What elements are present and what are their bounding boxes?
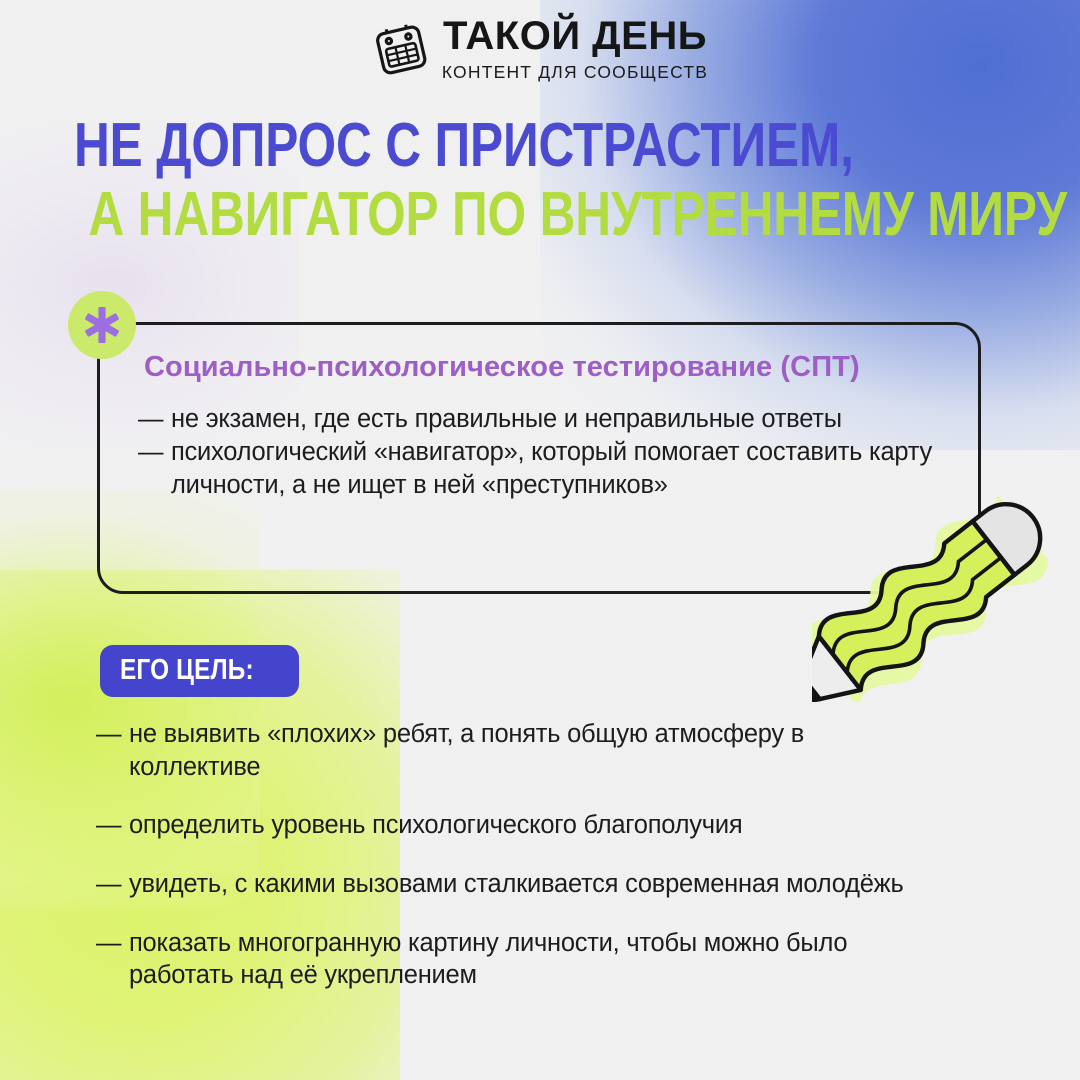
pencil-icon (812, 480, 1062, 702)
page-title: НЕ ДОПРОС С ПРИСТРАСТИЕМ, А НАВИГАТОР ПО… (74, 116, 1014, 246)
list-item-text: не экзамен, где есть правильные и неправ… (171, 403, 956, 436)
list-item-text: не выявить «плохих» ребят, а понять общу… (129, 718, 936, 783)
list-dash: — (96, 718, 129, 783)
headline-line-2: А НАВИГАТОР ПО ВНУТРЕННЕМУ МИРУ (74, 185, 826, 246)
list-item: — не экзамен, где есть правильные и непр… (138, 403, 956, 436)
list-item: — показать многогранную картину личности… (96, 927, 936, 992)
goal-list: — не выявить «плохих» ребят, а понять об… (96, 718, 936, 992)
asterisk-badge (68, 291, 136, 359)
headline-line-1: НЕ ДОПРОС С ПРИСТРАСТИЕМ, (74, 116, 826, 177)
asterisk-icon (82, 305, 122, 345)
list-item-text: увидеть, с какими вызовами сталкивается … (129, 868, 936, 901)
brand-title: ТАКОЙ ДЕНЬ (443, 16, 707, 57)
list-item: — определить уровень психологического бл… (96, 809, 936, 842)
list-dash: — (96, 868, 129, 901)
card-heading: Социально-психологическое тестирование (… (144, 351, 860, 384)
list-dash: — (96, 927, 129, 992)
list-item-text: показать многогранную картину личности, … (129, 927, 936, 992)
status-badge: ЕГО ЦЕЛЬ: (100, 645, 299, 697)
calendar-icon (372, 18, 430, 80)
list-item-text: определить уровень психологического благ… (129, 809, 936, 842)
list-item: — не выявить «плохих» ребят, а понять об… (96, 718, 936, 783)
brand-logo: ТАКОЙ ДЕНЬ КОНТЕНТ ДЛЯ СООБЩЕСТВ (0, 16, 1080, 83)
list-dash: — (138, 436, 171, 502)
poster-canvas: ТАКОЙ ДЕНЬ КОНТЕНТ ДЛЯ СООБЩЕСТВ НЕ ДОПР… (0, 0, 1080, 1080)
list-dash: — (138, 403, 171, 436)
goal-badge-label: ЕГО ЦЕЛЬ: (120, 656, 254, 685)
list-dash: — (96, 809, 129, 842)
brand-subtitle: КОНТЕНТ ДЛЯ СООБЩЕСТВ (442, 62, 708, 83)
list-item: — увидеть, с какими вызовами сталкиваетс… (96, 868, 936, 901)
